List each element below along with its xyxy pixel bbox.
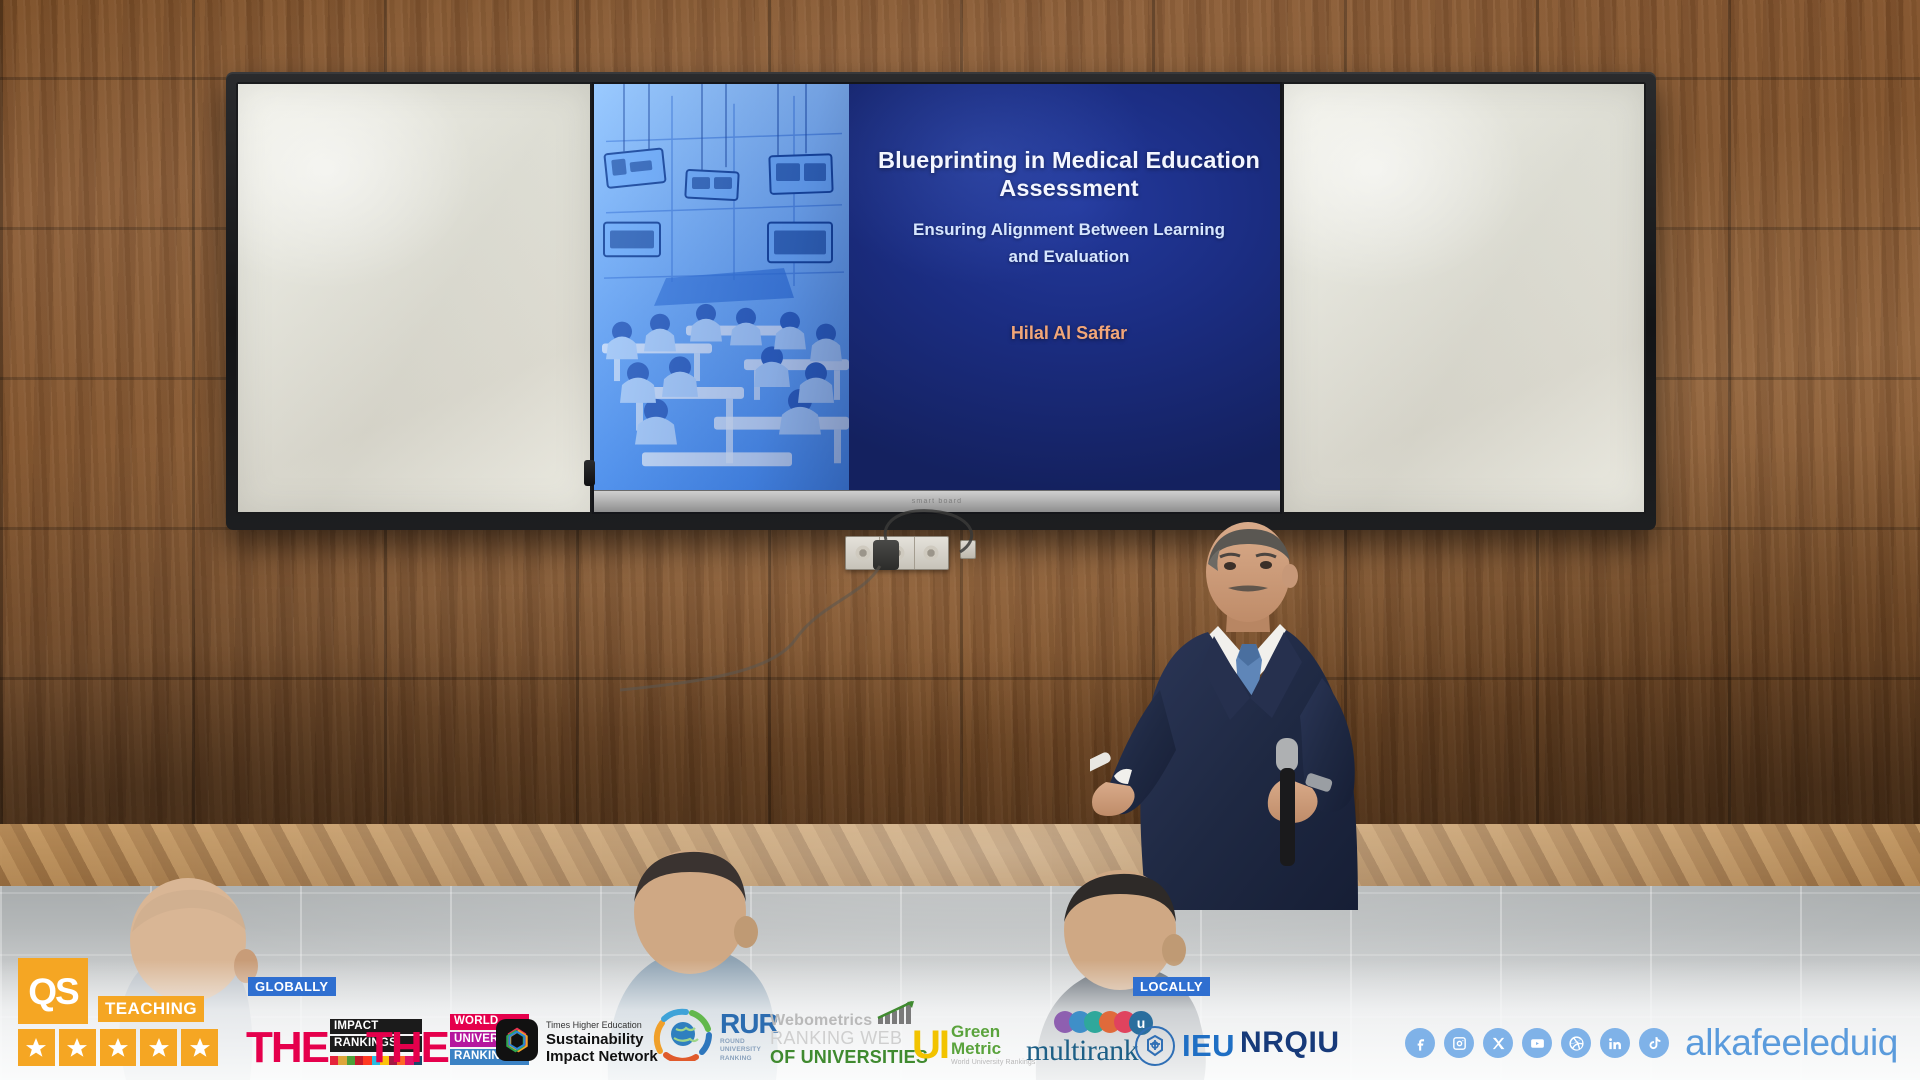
logo-bar: QS TEACHING GLOBALLY LOCALLY THE IMPACT … (0, 960, 1920, 1080)
rur-globe-icon (652, 1007, 716, 1066)
slide-title-line-1: Blueprinting in Medical Education (859, 146, 1279, 174)
presentation-slide: Blueprinting in Medical Education Assess… (594, 84, 1280, 490)
tiktok-icon[interactable] (1639, 1028, 1669, 1058)
the-wordmark-2: THE (366, 1030, 448, 1066)
interactive-display[interactable]: Blueprinting in Medical Education Assess… (592, 82, 1282, 514)
ui-greenmetric-logo[interactable]: UI Green Metric World University Ranking… (912, 1023, 1035, 1066)
sin-line-2: Impact Network (546, 1049, 658, 1066)
slide-subtitle: Ensuring Alignment Between Learning and … (849, 217, 1282, 271)
sin-line-1: Sustainability (546, 1032, 658, 1049)
nrqiu-logo[interactable]: NRQIU (1240, 1026, 1340, 1060)
slide-artwork-classroom (594, 84, 849, 490)
qs-star-5 (181, 1029, 218, 1066)
sin-eyebrow: Times Higher Education (546, 1020, 642, 1030)
youtube-icon[interactable] (1522, 1028, 1552, 1058)
webometrics-line-3: OF UNIVERSITIES (770, 1048, 928, 1066)
display-brand-label: smart board (912, 498, 963, 505)
qs-rating-logo[interactable]: QS TEACHING (18, 958, 218, 1066)
sustainability-hex-icon (496, 1019, 538, 1061)
badge-globally: GLOBALLY (248, 977, 336, 996)
power-plug (873, 540, 899, 570)
rur-logo[interactable]: RUR ROUND UNIVERSITY RANKING (652, 1007, 778, 1066)
slide-subtitle-line-2: and Evaluation (849, 244, 1282, 271)
qs-star-1 (18, 1029, 55, 1066)
slide-subtitle-line-1: Ensuring Alignment Between Learning (849, 217, 1282, 244)
u-multirank-logo[interactable]: u multirank (1026, 1011, 1153, 1066)
slide-author: Hilal Al Saffar (1011, 323, 1127, 344)
qs-star-row (18, 1029, 218, 1066)
ieu-seal-icon (1135, 1026, 1175, 1066)
badge-locally: LOCALLY (1133, 977, 1210, 996)
light-switch[interactable] (960, 540, 976, 559)
slide-text-area: Blueprinting in Medical Education Assess… (849, 84, 1282, 490)
screenshot-stage: Blueprinting in Medical Education Assess… (0, 0, 1920, 1080)
uigm-green-label: Green (951, 1023, 1035, 1040)
instagram-icon[interactable] (1444, 1028, 1474, 1058)
linkedin-icon[interactable] (1600, 1028, 1630, 1058)
facebook-icon[interactable] (1405, 1028, 1435, 1058)
qs-star-2 (59, 1029, 96, 1066)
qs-mark: QS (18, 958, 88, 1024)
webometrics-logo[interactable]: Webometrics RANKING WEB OF UNIVERSITIES (770, 1001, 928, 1066)
ieu-wordmark: IEU (1182, 1028, 1235, 1064)
slide-title: Blueprinting in Medical Education Assess… (859, 146, 1279, 203)
webometrics-line-2: RANKING WEB (770, 1029, 928, 1047)
qs-mark-label: QS (28, 973, 77, 1010)
social-handle[interactable]: alkafeeleduiq (1685, 1022, 1898, 1064)
display-bezel-bottom: smart board (594, 490, 1280, 512)
board-inner: Blueprinting in Medical Education Assess… (236, 82, 1646, 514)
sustainability-impact-network-logo[interactable]: Times Higher Education Sustainability Im… (496, 1015, 658, 1067)
ieu-logo[interactable]: IEU (1135, 1026, 1235, 1066)
uigm-metric-label: Metric (951, 1040, 1035, 1057)
multirank-wordmark: multirank (1026, 1036, 1153, 1066)
webometrics-wordmark: Webometrics (770, 1013, 872, 1029)
dribbble-icon[interactable] (1561, 1028, 1591, 1058)
slide-title-line-2: Assessment (859, 174, 1279, 202)
qs-teaching-label: TEACHING (98, 996, 204, 1022)
presenter (1090, 520, 1420, 910)
whiteboard-right-panel[interactable] (1282, 82, 1646, 514)
qs-star-3 (100, 1029, 137, 1066)
qs-star-4 (140, 1029, 177, 1066)
the-wordmark: THE (246, 1030, 328, 1066)
whiteboard-left-panel[interactable] (236, 82, 592, 514)
board-frame: Blueprinting in Medical Education Assess… (226, 72, 1656, 530)
social-links: alkafeeleduiq (1405, 1022, 1898, 1064)
x-icon[interactable] (1483, 1028, 1513, 1058)
marker-holder (584, 460, 595, 486)
uigm-wordmark: UI (912, 1028, 948, 1062)
uigm-sub-label: World University Rankings (951, 1059, 1035, 1066)
socket-3 (915, 537, 948, 569)
nrqiu-wordmark: NRQIU (1240, 1026, 1340, 1059)
